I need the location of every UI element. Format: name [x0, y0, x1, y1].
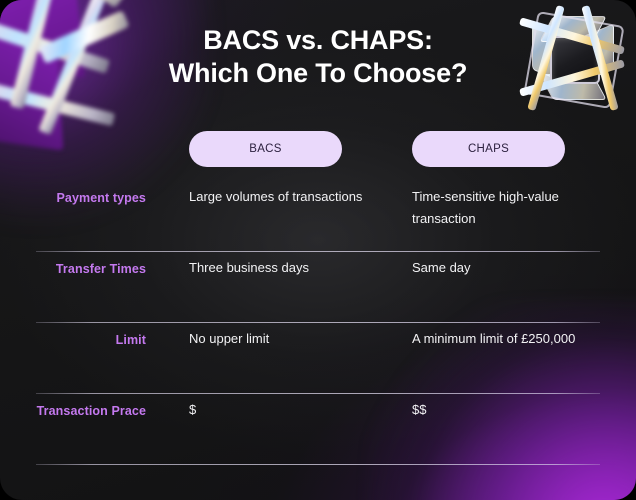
row-value-chaps-transfer-times: Same day [412, 257, 612, 279]
column-header-row: BACS CHAPS [0, 131, 636, 167]
row-divider [36, 464, 600, 465]
row-value-bacs-transaction-price: $ [189, 399, 399, 421]
row-value-bacs-limit: No upper limit [189, 328, 399, 350]
table-row: Transaction Prace $ $$ [0, 394, 636, 465]
column-header-bacs[interactable]: BACS [189, 131, 342, 167]
title-line-1: BACS vs. CHAPS: [0, 24, 636, 57]
table-row: Limit No upper limit A minimum limit of … [0, 323, 636, 394]
comparison-rows: Payment types Large volumes of transacti… [0, 181, 636, 465]
page-title: BACS vs. CHAPS: Which One To Choose? [0, 24, 636, 90]
row-value-chaps-transaction-price: $$ [412, 399, 612, 421]
row-value-chaps-limit: A minimum limit of £250,000 [412, 328, 612, 350]
row-label-payment-types: Payment types [0, 191, 146, 205]
row-value-chaps-payment-types: Time-sensitive high-value transaction [412, 186, 612, 230]
table-row: Transfer Times Three business days Same … [0, 252, 636, 323]
row-label-transfer-times: Transfer Times [0, 262, 146, 276]
row-value-bacs-transfer-times: Three business days [189, 257, 399, 279]
column-header-chaps[interactable]: CHAPS [412, 131, 565, 167]
title-line-2: Which One To Choose? [0, 57, 636, 90]
row-label-limit: Limit [0, 333, 146, 347]
row-label-transaction-price: Transaction Prace [0, 404, 146, 418]
row-value-bacs-payment-types: Large volumes of transactions [189, 186, 399, 208]
table-row: Payment types Large volumes of transacti… [0, 181, 636, 252]
comparison-card: BACS vs. CHAPS: Which One To Choose? BAC… [0, 0, 636, 500]
